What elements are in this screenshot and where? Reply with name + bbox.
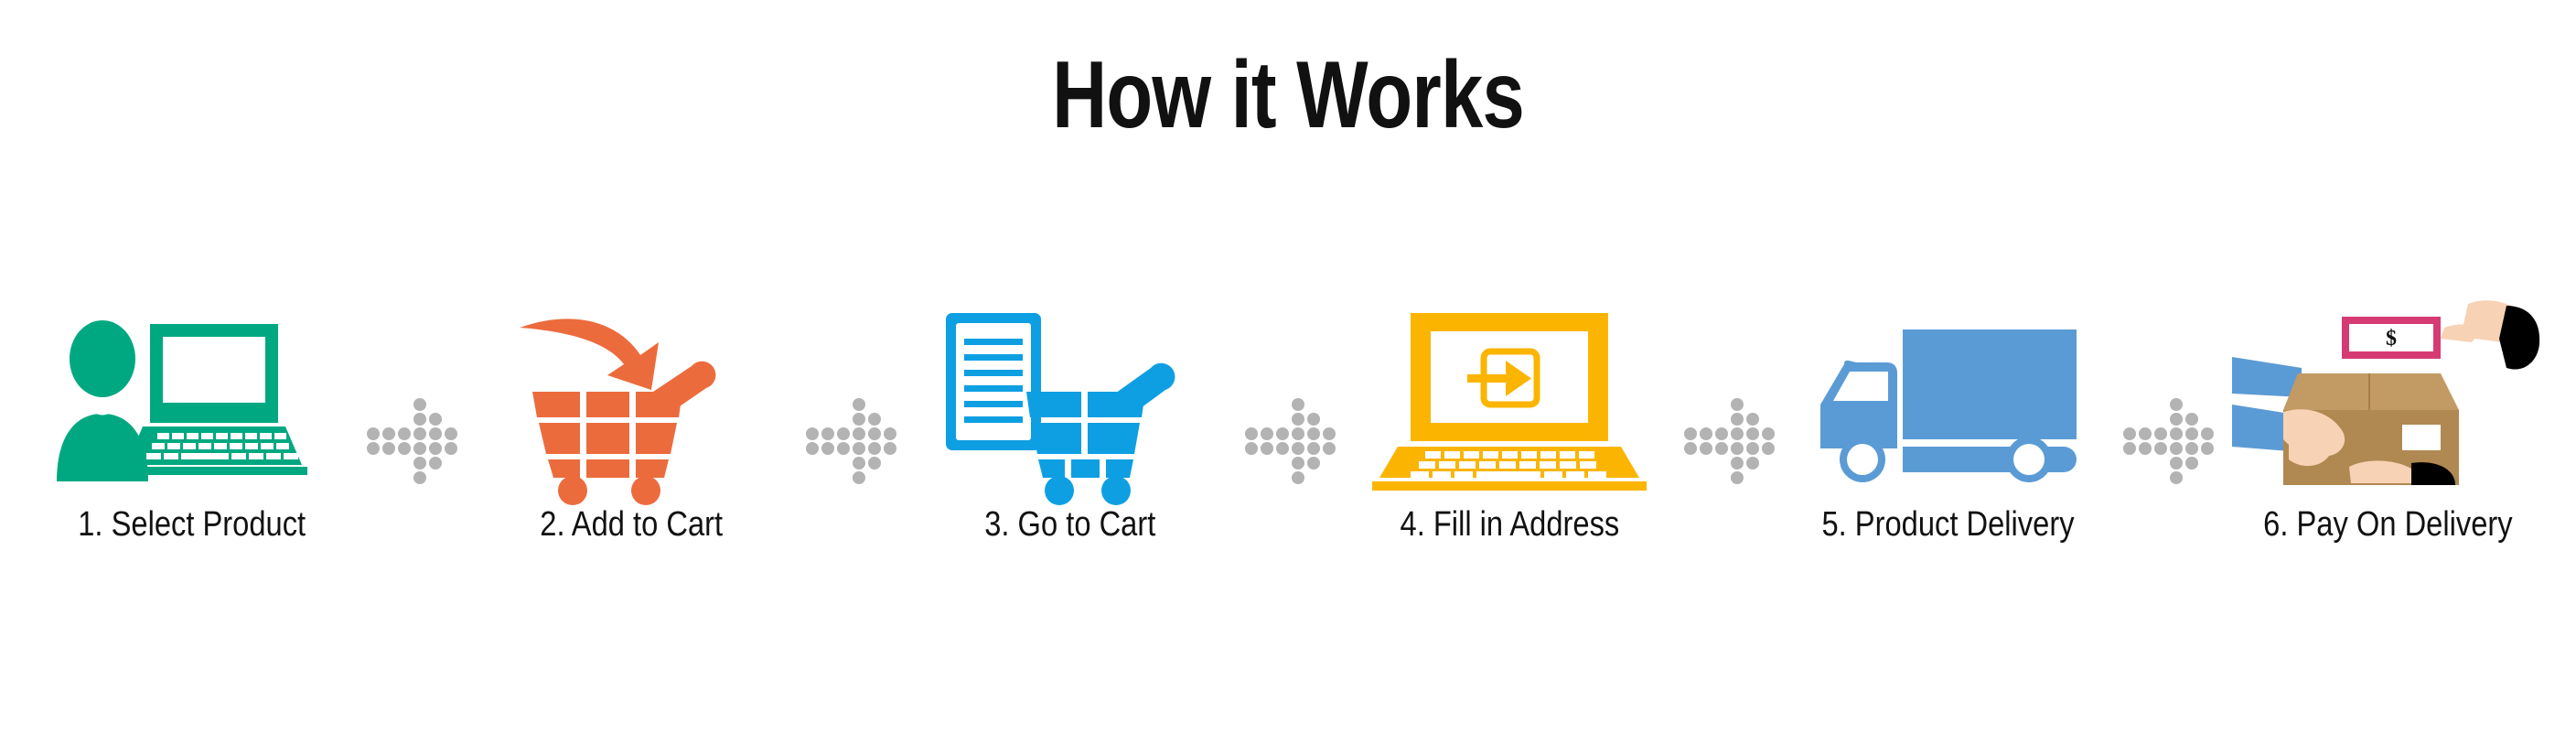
step-5-label: 5. Product Delivery: [1822, 505, 2075, 545]
how-it-works-infographic: How it Works: [0, 0, 2576, 745]
step-1-icon-box: [27, 302, 357, 485]
separator-4: [1674, 350, 1784, 533]
person-with-laptop-icon: [55, 311, 329, 485]
separator-5: [2113, 350, 2223, 533]
step-2-label: 2. Add to Cart: [540, 505, 723, 545]
dotted-right-arrow-icon: [805, 397, 896, 485]
dotted-right-arrow-icon: [2122, 397, 2214, 485]
separator-3: [1235, 350, 1345, 533]
dotted-right-arrow-icon: [366, 397, 457, 485]
box-shipping-label: [2402, 425, 2441, 450]
page-title: How it Works: [258, 48, 2319, 143]
delivery-truck-icon: [1811, 311, 2086, 485]
upper-cuff-shape: [2499, 306, 2539, 370]
separator-1: [357, 350, 467, 533]
step-3-label: 3. Go to Cart: [984, 505, 1155, 545]
hands-exchanging-box-and-cash-icon: $: [2232, 302, 2543, 485]
box-top-face: [2283, 373, 2459, 410]
steps-row: 1. Select Product: [27, 302, 2552, 668]
dollar-sign-label: $: [2386, 327, 2397, 351]
step-5-icon-box: [1784, 302, 2113, 485]
step-4-label: 4. Fill in Address: [1400, 505, 1619, 545]
document-with-cart-icon: [942, 311, 1198, 485]
step-add-to-cart[interactable]: 2. Add to Cart: [467, 302, 796, 545]
step-2-icon-box: [467, 302, 796, 485]
step-fill-in-address[interactable]: 4. Fill in Address: [1345, 302, 1674, 545]
step-go-to-cart[interactable]: 3. Go to Cart: [906, 302, 1235, 545]
step-product-delivery[interactable]: 5. Product Delivery: [1784, 302, 2113, 545]
step-6-label: 6. Pay On Delivery: [2263, 505, 2512, 545]
step-4-icon-box: [1345, 302, 1674, 485]
step-pay-on-delivery[interactable]: $: [2223, 302, 2552, 545]
step-select-product[interactable]: 1. Select Product: [27, 302, 357, 545]
separator-2: [796, 350, 906, 533]
laptop-with-login-arrow-icon: [1372, 311, 1647, 485]
step-6-icon-box: $: [2223, 302, 2552, 485]
step-1-label: 1. Select Product: [79, 505, 306, 545]
step-3-icon-box: [906, 302, 1235, 485]
dotted-right-arrow-icon: [1683, 397, 1775, 485]
dotted-right-arrow-icon: [1244, 397, 1336, 485]
cart-with-down-arrow-icon: [512, 311, 750, 485]
